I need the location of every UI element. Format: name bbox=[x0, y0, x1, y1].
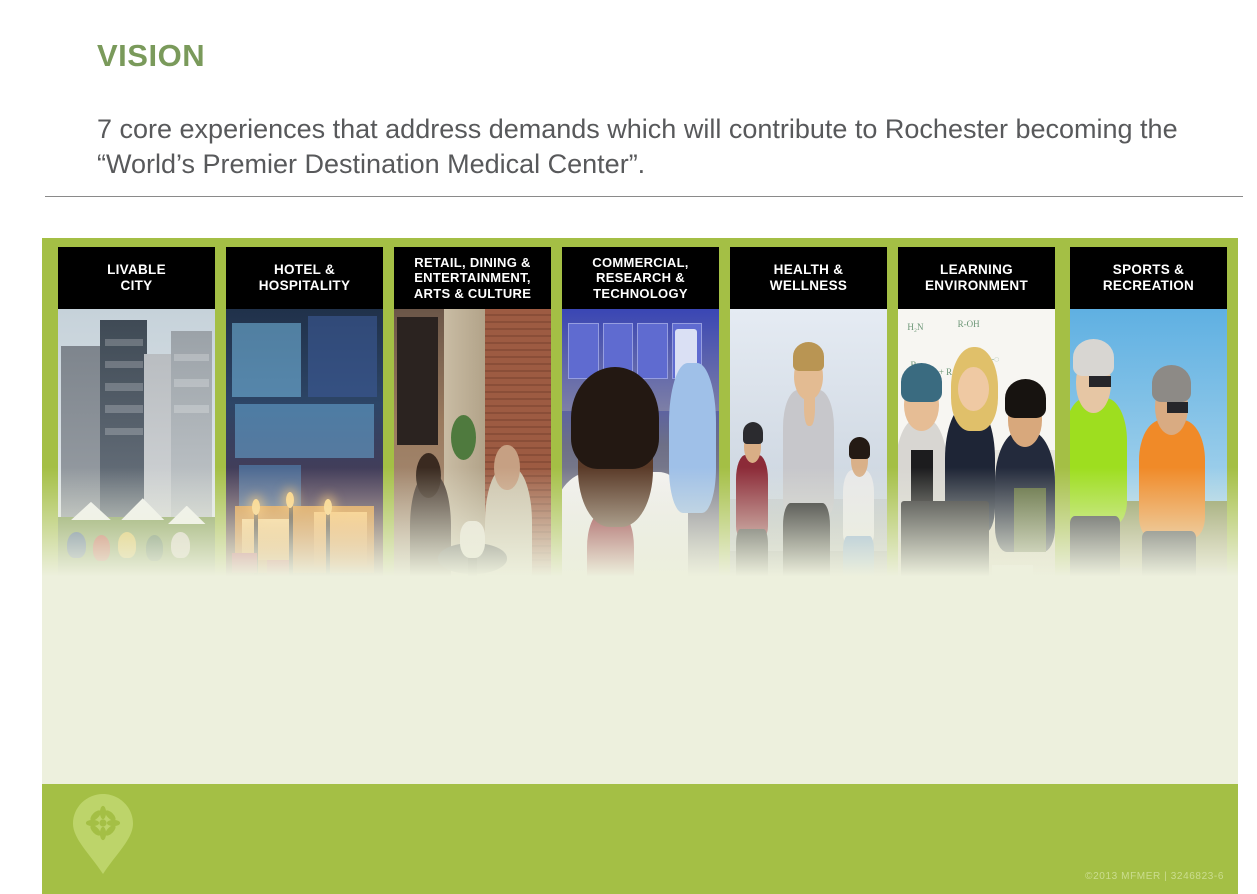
experience-column-hotel-hospitality[interactable]: HOTEL & HOSPITALITY bbox=[226, 247, 383, 648]
column-label-line: HEALTH & bbox=[770, 262, 847, 278]
column-photo-retail-dining-entertainment-arts-culture bbox=[394, 309, 551, 687]
experience-columns: LIVABLE CITY bbox=[58, 247, 1238, 767]
column-label-line: HOSPITALITY bbox=[259, 278, 351, 294]
experience-column-commercial-research-technology[interactable]: COMMERCIAL, RESEARCH & TECHNOLOGY bbox=[562, 247, 719, 649]
column-label-line: RECREATION bbox=[1103, 278, 1194, 294]
column-label-line: RESEARCH & bbox=[592, 270, 688, 286]
header-divider bbox=[45, 196, 1243, 197]
column-photo-sports-recreation bbox=[1070, 309, 1227, 679]
column-label-line: TECHNOLOGY bbox=[592, 286, 688, 302]
footer-logo bbox=[70, 792, 136, 876]
column-header-commercial-research-technology: COMMERCIAL, RESEARCH & TECHNOLOGY bbox=[562, 247, 719, 309]
column-header-sports-recreation: SPORTS & RECREATION bbox=[1070, 247, 1227, 309]
column-label-line: WELLNESS bbox=[770, 278, 847, 294]
page-subtitle: 7 core experiences that address demands … bbox=[97, 112, 1217, 182]
column-label-line: ENTERTAINMENT, bbox=[414, 270, 531, 286]
column-label-line: ENVIRONMENT bbox=[925, 278, 1028, 294]
column-label-line: ARTS & CULTURE bbox=[414, 286, 531, 302]
column-label-line: HOTEL & bbox=[259, 262, 351, 278]
column-label-line: CITY bbox=[107, 278, 166, 294]
column-header-learning-environment: LEARNING ENVIRONMENT bbox=[898, 247, 1055, 309]
experience-column-livable-city[interactable]: LIVABLE CITY bbox=[58, 247, 215, 680]
slide-footer: ©2013 MFMER | 3246823-6 bbox=[42, 784, 1238, 894]
column-label-line: SPORTS & bbox=[1103, 262, 1194, 278]
column-label-line: LIVABLE bbox=[107, 262, 166, 278]
column-header-hotel-hospitality: HOTEL & HOSPITALITY bbox=[226, 247, 383, 309]
mayo-clinic-pin-icon bbox=[70, 792, 136, 876]
column-header-retail-dining-entertainment-arts-culture: RETAIL, DINING & ENTERTAINMENT, ARTS & C… bbox=[394, 247, 551, 309]
experience-column-learning-environment[interactable]: LEARNING ENVIRONMENT H₂N R-OH Br + R₂HO … bbox=[898, 247, 1055, 629]
column-photo-health-wellness bbox=[730, 309, 887, 675]
column-photo-learning-environment: H₂N R-OH Br + R₂HO ◌—◌ bbox=[898, 309, 1055, 629]
column-header-livable-city: LIVABLE CITY bbox=[58, 247, 215, 309]
experience-column-retail-dining-entertainment-arts-culture[interactable]: RETAIL, DINING & ENTERTAINMENT, ARTS & C… bbox=[394, 247, 551, 687]
experience-column-sports-recreation[interactable]: SPORTS & RECREATION bbox=[1070, 247, 1227, 679]
experiences-panel: LIVABLE CITY bbox=[42, 238, 1238, 784]
column-photo-hotel-hospitality bbox=[226, 309, 383, 648]
column-label-line: LEARNING bbox=[925, 262, 1028, 278]
column-photo-commercial-research-technology bbox=[562, 309, 719, 649]
copyright-notice: ©2013 MFMER | 3246823-6 bbox=[1085, 871, 1224, 882]
column-header-health-wellness: HEALTH & WELLNESS bbox=[730, 247, 887, 309]
column-label-line: COMMERCIAL, bbox=[592, 255, 688, 271]
column-label-line: RETAIL, DINING & bbox=[414, 255, 531, 271]
experience-column-health-wellness[interactable]: HEALTH & WELLNESS bbox=[730, 247, 887, 675]
column-photo-livable-city bbox=[58, 309, 215, 680]
page-title: VISION bbox=[97, 38, 205, 74]
